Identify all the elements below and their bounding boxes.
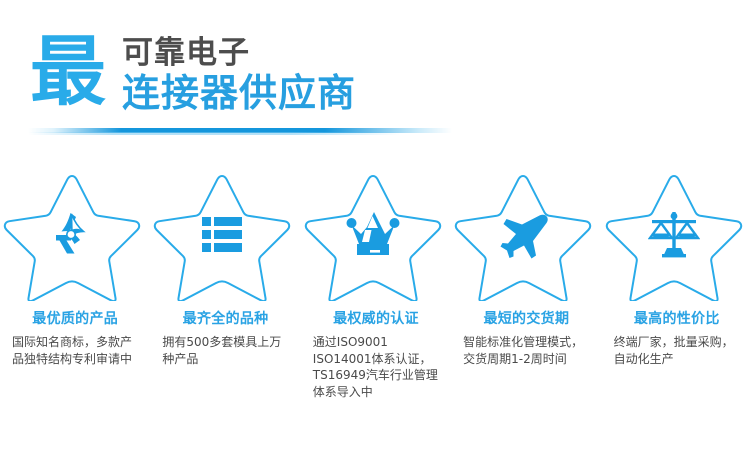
headline-block: 最 可靠电子 连接器供应商 xyxy=(30,32,530,124)
feature-item: 最短的交货期 智能标准化管理模式，交货周期1-2周时间 xyxy=(451,168,601,367)
feature-icon-layer xyxy=(2,168,142,301)
feature-description: 通过ISO9001 ISO14001体系认证，TS16949汽车行业管理体系导入… xyxy=(301,334,451,400)
award-ribbon-icon xyxy=(44,207,100,263)
feature-description: 国际知名商标，多款产品独特结构专利审请中 xyxy=(0,334,150,367)
page-header: 最 可靠电子 连接器供应商 xyxy=(0,0,752,150)
airplane-icon xyxy=(495,210,551,260)
feature-item: 最齐全的品种 拥有500多套模具上万种产品 xyxy=(150,168,300,367)
balance-scales-icon xyxy=(648,209,700,261)
feature-icon-layer xyxy=(152,168,292,301)
headline-line-bottom: 连接器供应商 xyxy=(122,72,356,114)
feature-item: 最高的性价比 终端厂家，批量采购，自动化生产 xyxy=(602,168,752,367)
feature-title: 最优质的产品 xyxy=(0,310,150,328)
feature-title: 最权威的认证 xyxy=(301,310,451,328)
star-frame xyxy=(303,168,443,301)
headline-line-top: 可靠电子 xyxy=(122,36,250,70)
feature-icon-layer xyxy=(453,168,593,301)
feature-description: 终端厂家，批量采购，自动化生产 xyxy=(602,334,752,367)
feature-icon-layer xyxy=(303,168,443,301)
star-frame xyxy=(453,168,593,301)
feature-item: 最权威的认证 通过ISO9001 ISO14001体系认证，TS16949汽车行… xyxy=(301,168,451,400)
headline-big-character: 最 xyxy=(30,34,106,110)
feature-title: 最齐全的品种 xyxy=(150,310,300,328)
list-grid-icon xyxy=(201,216,243,254)
feature-title: 最高的性价比 xyxy=(602,310,752,328)
feature-description: 智能标准化管理模式，交货周期1-2周时间 xyxy=(451,334,601,367)
star-frame xyxy=(604,168,744,301)
feature-description: 拥有500多套模具上万种产品 xyxy=(150,334,300,367)
crown-icon xyxy=(345,210,401,260)
feature-item: 最优质的产品 国际知名商标，多款产品独特结构专利审请中 xyxy=(0,168,150,367)
feature-list: 最优质的产品 国际知名商标，多款产品独特结构专利审请中 xyxy=(0,168,752,400)
star-frame xyxy=(2,168,142,301)
feature-title: 最短的交货期 xyxy=(451,310,601,328)
gradient-divider xyxy=(28,128,452,135)
divider-bar-soft xyxy=(28,132,452,135)
feature-icon-layer xyxy=(604,168,744,301)
star-frame xyxy=(152,168,292,301)
